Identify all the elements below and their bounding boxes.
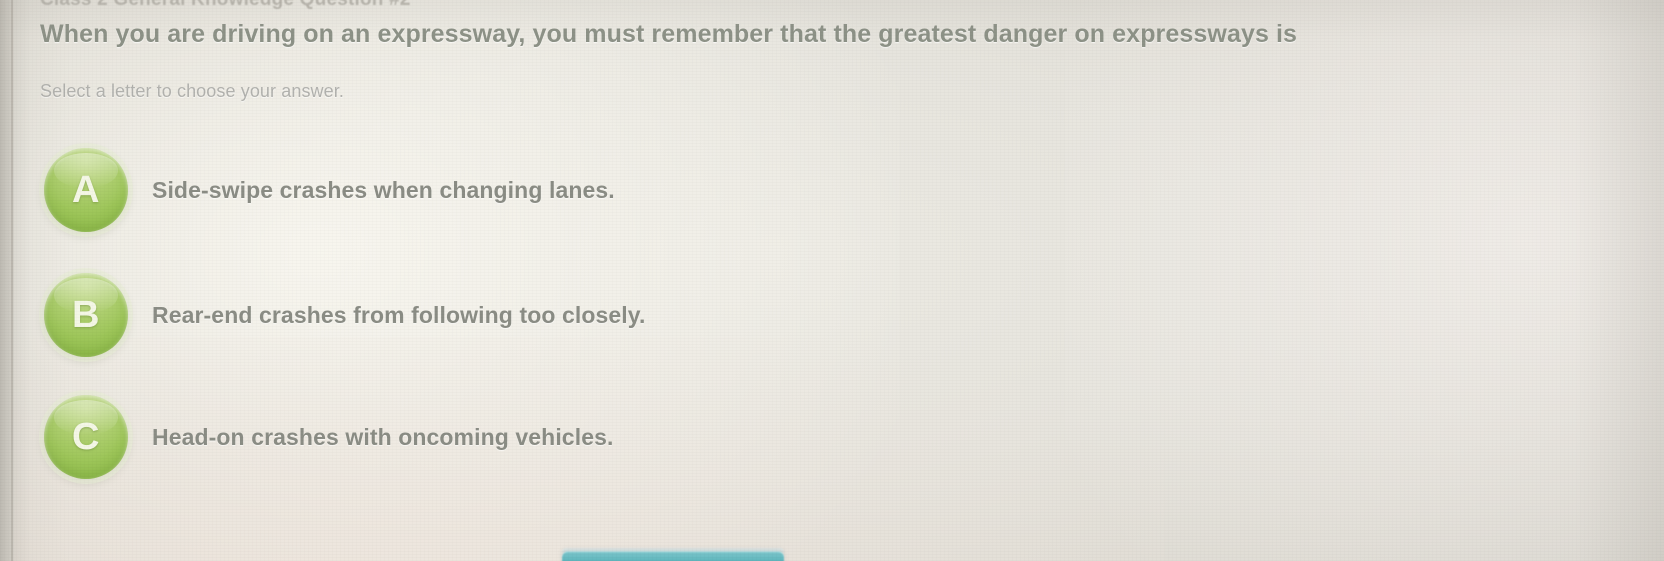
answer-option-c[interactable]: C Head-on crashes with oncoming vehicles… <box>44 393 613 481</box>
answer-text-a: Side-swipe crashes when changing lanes. <box>152 177 615 204</box>
answer-text-c: Head-on crashes with oncoming vehicles. <box>152 424 613 451</box>
answer-letter-badge-b[interactable]: B <box>44 273 128 357</box>
answer-option-a[interactable]: A Side-swipe crashes when changing lanes… <box>44 146 615 234</box>
quiz-screen: Class 2 General Knowledge Question #2 Wh… <box>0 0 1664 561</box>
answer-letter-badge-c[interactable]: C <box>44 395 128 479</box>
answer-text-b: Rear-end crashes from following too clos… <box>152 302 645 329</box>
answer-letter-c: C <box>72 416 100 459</box>
bottom-action-button[interactable] <box>562 551 784 561</box>
answer-option-b[interactable]: B Rear-end crashes from following too cl… <box>44 271 645 359</box>
answer-letter-b: B <box>72 294 100 337</box>
answer-options-list: A Side-swipe crashes when changing lanes… <box>0 0 1664 561</box>
answer-letter-badge-a[interactable]: A <box>44 148 128 232</box>
answer-letter-a: A <box>72 169 100 212</box>
